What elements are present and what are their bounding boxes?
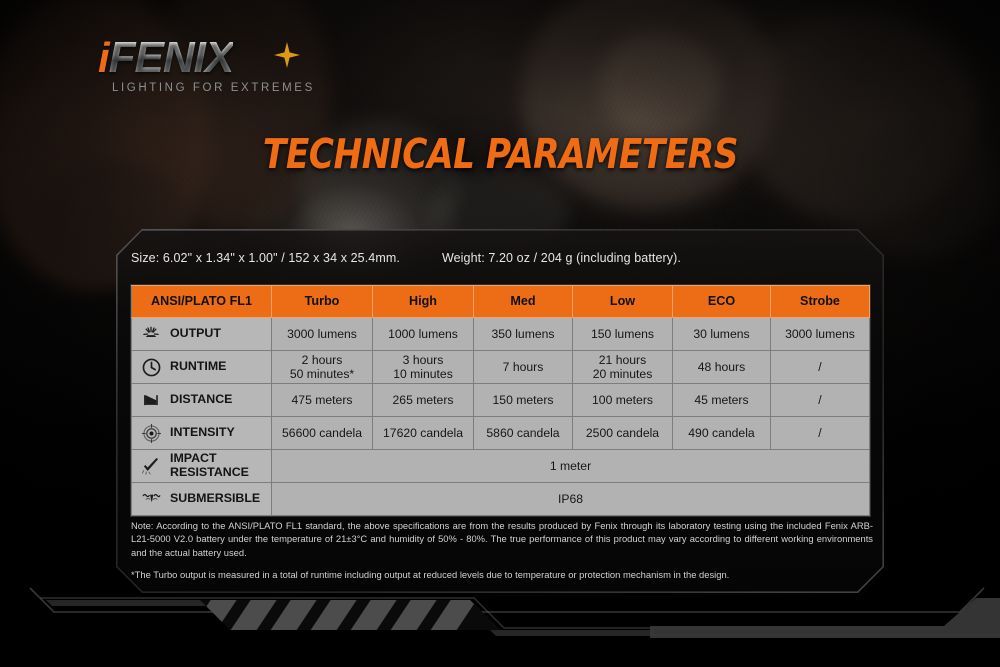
logo-wordmark: FENIX [109, 36, 234, 80]
screenshot-root: i FENIX LIGHTING FOR EXTREMES TECHNICAL … [0, 0, 1000, 667]
table-row: IMPACTRESISTANCE 1 meter [132, 450, 870, 483]
beam-distance-icon [139, 389, 163, 411]
page-title-text: TECHNICAL PARAMETERS [262, 130, 737, 178]
cell-distance-med: 150 meters [474, 384, 573, 417]
row-label-text: INTENSITY [170, 426, 235, 440]
cell-output-turbo: 3000 lumens [272, 318, 373, 351]
sunburst-icon [139, 323, 163, 345]
cell-submersible-value: IP68 [272, 483, 870, 516]
size-weight-line: Size: 6.02" x 1.34" x 1.00" / 152 x 34 x… [131, 251, 681, 265]
cell-intensity-low: 2500 candela [573, 417, 673, 450]
target-intensity-icon [139, 422, 163, 444]
row-label-text: RUNTIME [170, 360, 226, 374]
star-spark-icon [274, 42, 300, 68]
size-text: Size: 6.02" x 1.34" x 1.00" / 152 x 34 x… [131, 251, 400, 265]
cell-runtime-med: 7 hours [474, 351, 573, 384]
logo-i-mark: i [98, 37, 108, 79]
row-label-text: OUTPUT [170, 327, 221, 341]
cell-output-low: 150 lumens [573, 318, 673, 351]
cell-runtime-low: 21 hours20 minutes [573, 351, 673, 384]
table-row: OUTPUT 3000 lumens 1000 lumens 350 lumen… [132, 318, 870, 351]
cell-distance-eco: 45 meters [673, 384, 771, 417]
weight-text: Weight: 7.20 oz / 204 g (including batte… [442, 251, 681, 265]
cell-intensity-high: 17620 candela [373, 417, 474, 450]
impact-hammer-icon [139, 455, 163, 477]
row-label-output: OUTPUT [132, 318, 272, 351]
table-row: RUNTIME 2 hours50 minutes* 3 hours10 min… [132, 351, 870, 384]
spec-table: ANSI/PLATO FL1 Turbo High Med Low ECO St… [131, 285, 870, 516]
cell-output-strobe: 3000 lumens [771, 318, 870, 351]
row-label-impact-resistance: IMPACTRESISTANCE [132, 450, 272, 483]
brand-logo: i FENIX LIGHTING FOR EXTREMES [98, 36, 348, 96]
water-waves-icon [139, 488, 163, 510]
column-header-med: Med [474, 286, 573, 318]
cell-distance-strobe: / [771, 384, 870, 417]
table-row: INTENSITY 56600 candela 17620 candela 58… [132, 417, 870, 450]
table-row: DISTANCE 475 meters 265 meters 150 meter… [132, 384, 870, 417]
column-header-low: Low [573, 286, 673, 318]
cell-impact-resistance-value: 1 meter [272, 450, 870, 483]
spec-table-head: ANSI/PLATO FL1 Turbo High Med Low ECO St… [132, 286, 870, 318]
note-footnote: *The Turbo output is measured in a total… [131, 568, 873, 581]
spec-table-body: OUTPUT 3000 lumens 1000 lumens 350 lumen… [132, 318, 870, 516]
column-header-ansi: ANSI/PLATO FL1 [132, 286, 272, 318]
cell-output-high: 1000 lumens [373, 318, 474, 351]
row-label-text: IMPACTRESISTANCE [170, 452, 249, 480]
cell-intensity-strobe: / [771, 417, 870, 450]
column-header-turbo: Turbo [272, 286, 373, 318]
cell-distance-high: 265 meters [373, 384, 474, 417]
clock-icon [139, 356, 163, 378]
column-header-high: High [373, 286, 474, 318]
note-main: Note: According to the ANSI/PLATO FL1 st… [131, 519, 873, 559]
column-header-eco: ECO [673, 286, 771, 318]
cell-intensity-eco: 490 candela [673, 417, 771, 450]
table-header-row: ANSI/PLATO FL1 Turbo High Med Low ECO St… [132, 286, 870, 318]
row-label-text: SUBMERSIBLE [170, 492, 260, 506]
row-label-text: DISTANCE [170, 393, 232, 407]
row-label-intensity: INTENSITY [132, 417, 272, 450]
notes-block: Note: According to the ANSI/PLATO FL1 st… [131, 519, 873, 581]
row-label-distance: DISTANCE [132, 384, 272, 417]
cell-runtime-high: 3 hours10 minutes [373, 351, 474, 384]
row-label-submersible: SUBMERSIBLE [132, 483, 272, 516]
page-title: TECHNICAL PARAMETERS [0, 130, 1000, 178]
cell-runtime-turbo: 2 hours50 minutes* [272, 351, 373, 384]
row-label-runtime: RUNTIME [132, 351, 272, 384]
table-row: SUBMERSIBLE IP68 [132, 483, 870, 516]
cell-distance-low: 100 meters [573, 384, 673, 417]
logo-tagline: LIGHTING FOR EXTREMES [112, 82, 348, 94]
cell-runtime-eco: 48 hours [673, 351, 771, 384]
cell-distance-turbo: 475 meters [272, 384, 373, 417]
cell-runtime-strobe: / [771, 351, 870, 384]
cell-intensity-med: 5860 candela [474, 417, 573, 450]
cell-intensity-turbo: 56600 candela [272, 417, 373, 450]
cell-output-med: 350 lumens [474, 318, 573, 351]
column-header-strobe: Strobe [771, 286, 870, 318]
cell-output-eco: 30 lumens [673, 318, 771, 351]
